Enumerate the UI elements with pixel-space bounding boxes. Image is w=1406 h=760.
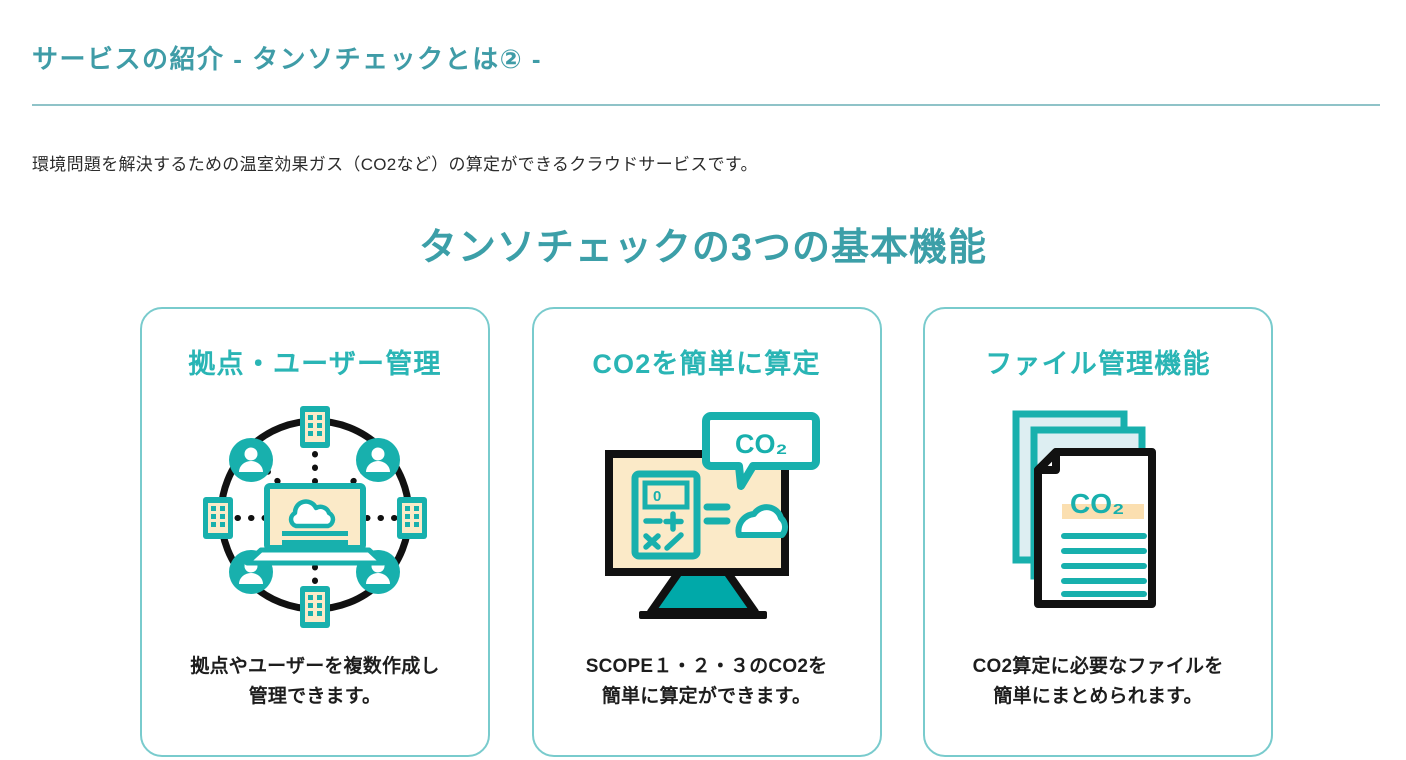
network-users-buildings-laptop-icon xyxy=(200,400,430,630)
card-title: CO2を簡単に算定 xyxy=(592,351,820,378)
card-illustration: 0 xyxy=(534,378,880,652)
card-caption-line-1: 拠点やユーザーを複数作成し xyxy=(190,652,439,681)
laptop-cloud-icon xyxy=(247,486,383,563)
feature-card-list: 拠点・ユーザー管理 xyxy=(140,307,1273,757)
card-caption: CO2算定に必要なファイルを 簡単にまとめられます。 xyxy=(973,652,1224,711)
card-caption: 拠点やユーザーを複数作成し 管理できます。 xyxy=(190,652,439,711)
card-caption: SCOPE１・２・３のCO2を 簡単に算定ができます。 xyxy=(586,652,828,711)
document-co2-label: CO₂ xyxy=(1070,488,1124,519)
page-subtitle: 環境問題を解決するための温室効果ガス（CO2など）の算定ができるクラウドサービス… xyxy=(32,150,758,175)
calculator-display-value: 0 xyxy=(653,488,661,505)
card-caption-line-1: SCOPE１・２・３のCO2を xyxy=(586,652,828,681)
card-caption-line-2: 簡単に算定ができます。 xyxy=(586,682,828,711)
card-illustration xyxy=(142,378,488,652)
feature-card-co2-calculation[interactable]: CO2を簡単に算定 0 xyxy=(532,307,882,757)
feature-card-site-user-management[interactable]: 拠点・ユーザー管理 xyxy=(140,307,490,757)
document-stack-co2-icon: CO₂ xyxy=(1008,408,1188,623)
monitor-calculator-cloud-co2-icon: 0 xyxy=(587,408,827,623)
card-caption-line-1: CO2算定に必要なファイルを xyxy=(973,652,1224,681)
card-title: ファイル管理機能 xyxy=(985,351,1211,378)
card-title: 拠点・ユーザー管理 xyxy=(188,351,441,378)
card-illustration: CO₂ xyxy=(925,378,1271,652)
feature-card-file-management[interactable]: ファイル管理機能 CO₂ xyxy=(923,307,1273,757)
co2-bubble-label: CO₂ xyxy=(735,429,788,459)
section-heading: タンソチェックの3つの基本機能 xyxy=(0,216,1406,271)
card-caption-line-2: 管理できます。 xyxy=(190,682,439,711)
page-title: サービスの紹介 - タンソチェックとは② - xyxy=(32,39,542,76)
title-divider xyxy=(32,104,1380,106)
card-caption-line-2: 簡単にまとめられます。 xyxy=(973,682,1224,711)
